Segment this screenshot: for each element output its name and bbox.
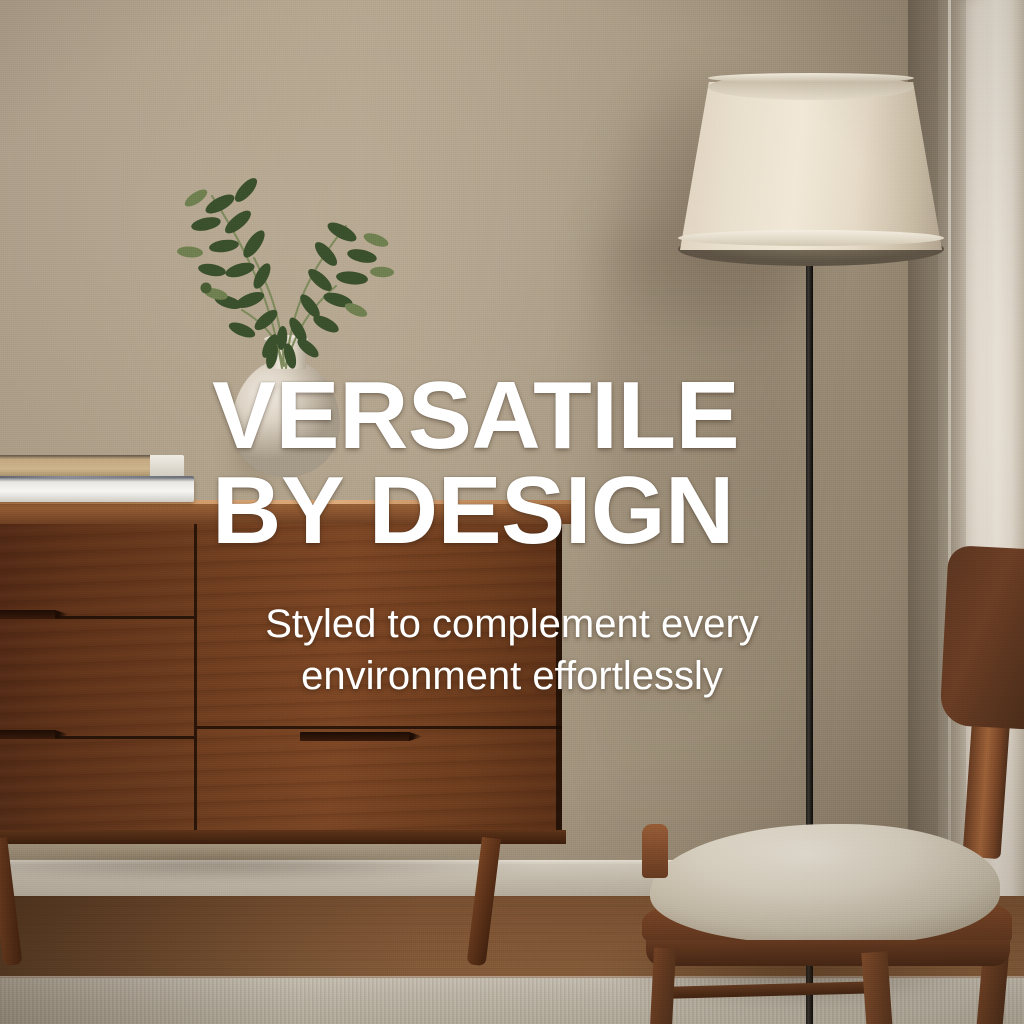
subtitle: Styled to complement every environment e… (212, 598, 812, 702)
text-overlay: VERSATILE BY DESIGN Styled to complement… (0, 0, 1024, 1024)
headline-line-1: VERSATILE (212, 368, 812, 463)
scene-canvas: VERSATILE BY DESIGN Styled to complement… (0, 0, 1024, 1024)
headline-line-2: BY DESIGN (212, 463, 812, 558)
subtitle-line-2: environment effortlessly (212, 650, 812, 702)
subtitle-line-1: Styled to complement every (212, 598, 812, 650)
headline: VERSATILE BY DESIGN (212, 368, 812, 558)
